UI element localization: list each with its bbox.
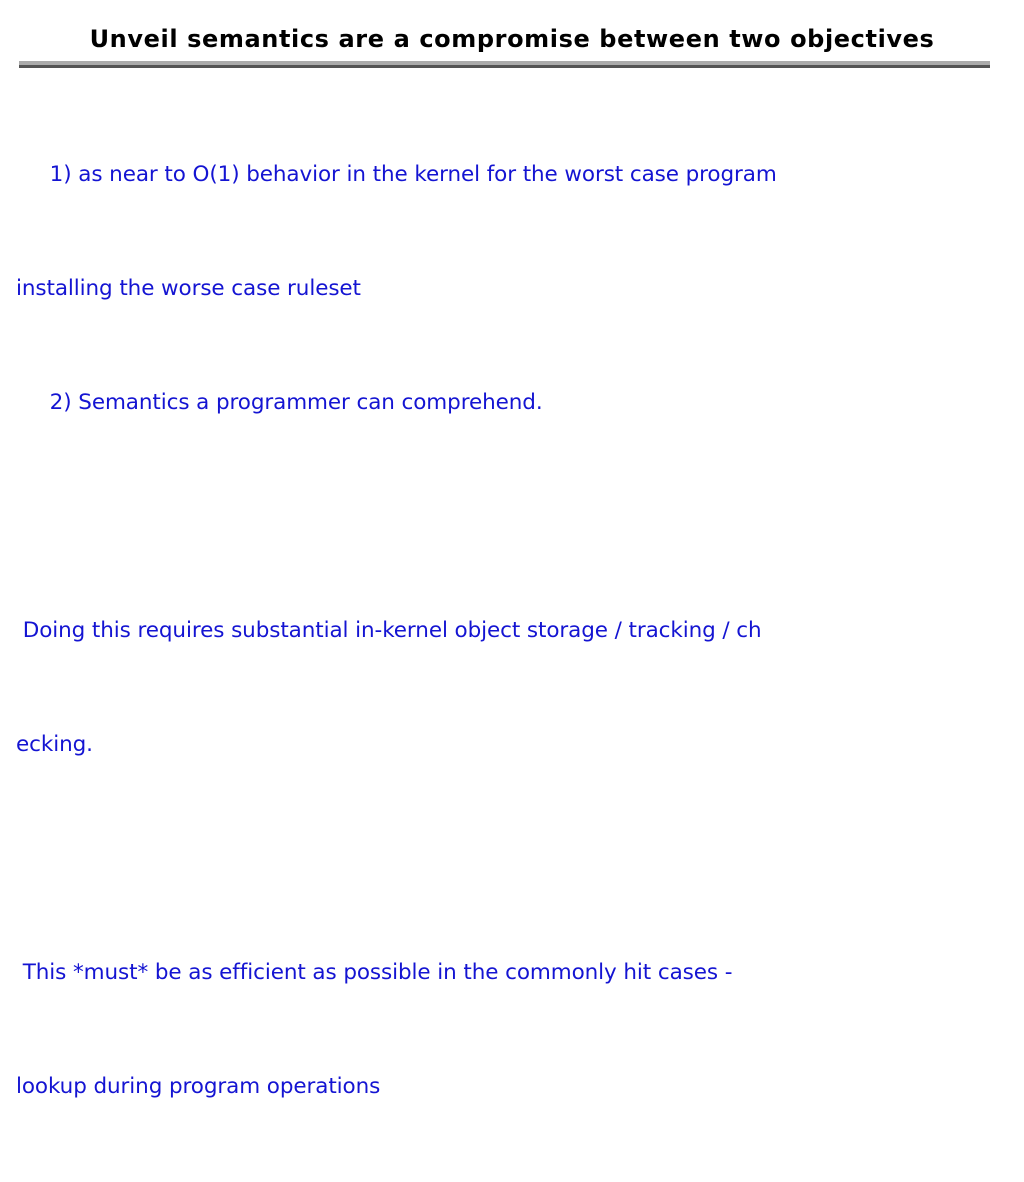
page-title: Unveil semantics are a compromise betwee…	[0, 24, 1024, 54]
body-line-blank	[16, 840, 1008, 878]
slide-canvas: Unveil semantics are a compromise betwee…	[0, 0, 1024, 768]
body-line: 1) as near to O(1) behavior in the kerne…	[16, 156, 1008, 194]
body-line: lookup during program operations	[16, 1068, 1008, 1106]
title-divider	[19, 61, 990, 68]
body-line: 2) Semantics a programmer can comprehend…	[16, 384, 1008, 422]
slide-body: 1) as near to O(1) behavior in the kerne…	[16, 80, 1008, 1182]
body-line-blank	[16, 498, 1008, 536]
title-divider-dark-band	[19, 65, 990, 68]
body-line: This *must* be as efficient as possible …	[16, 954, 1008, 992]
body-line: ecking.	[16, 726, 1008, 764]
body-line: installing the worse case ruleset	[16, 270, 1008, 308]
body-line: Doing this requires substantial in-kerne…	[16, 612, 1008, 650]
